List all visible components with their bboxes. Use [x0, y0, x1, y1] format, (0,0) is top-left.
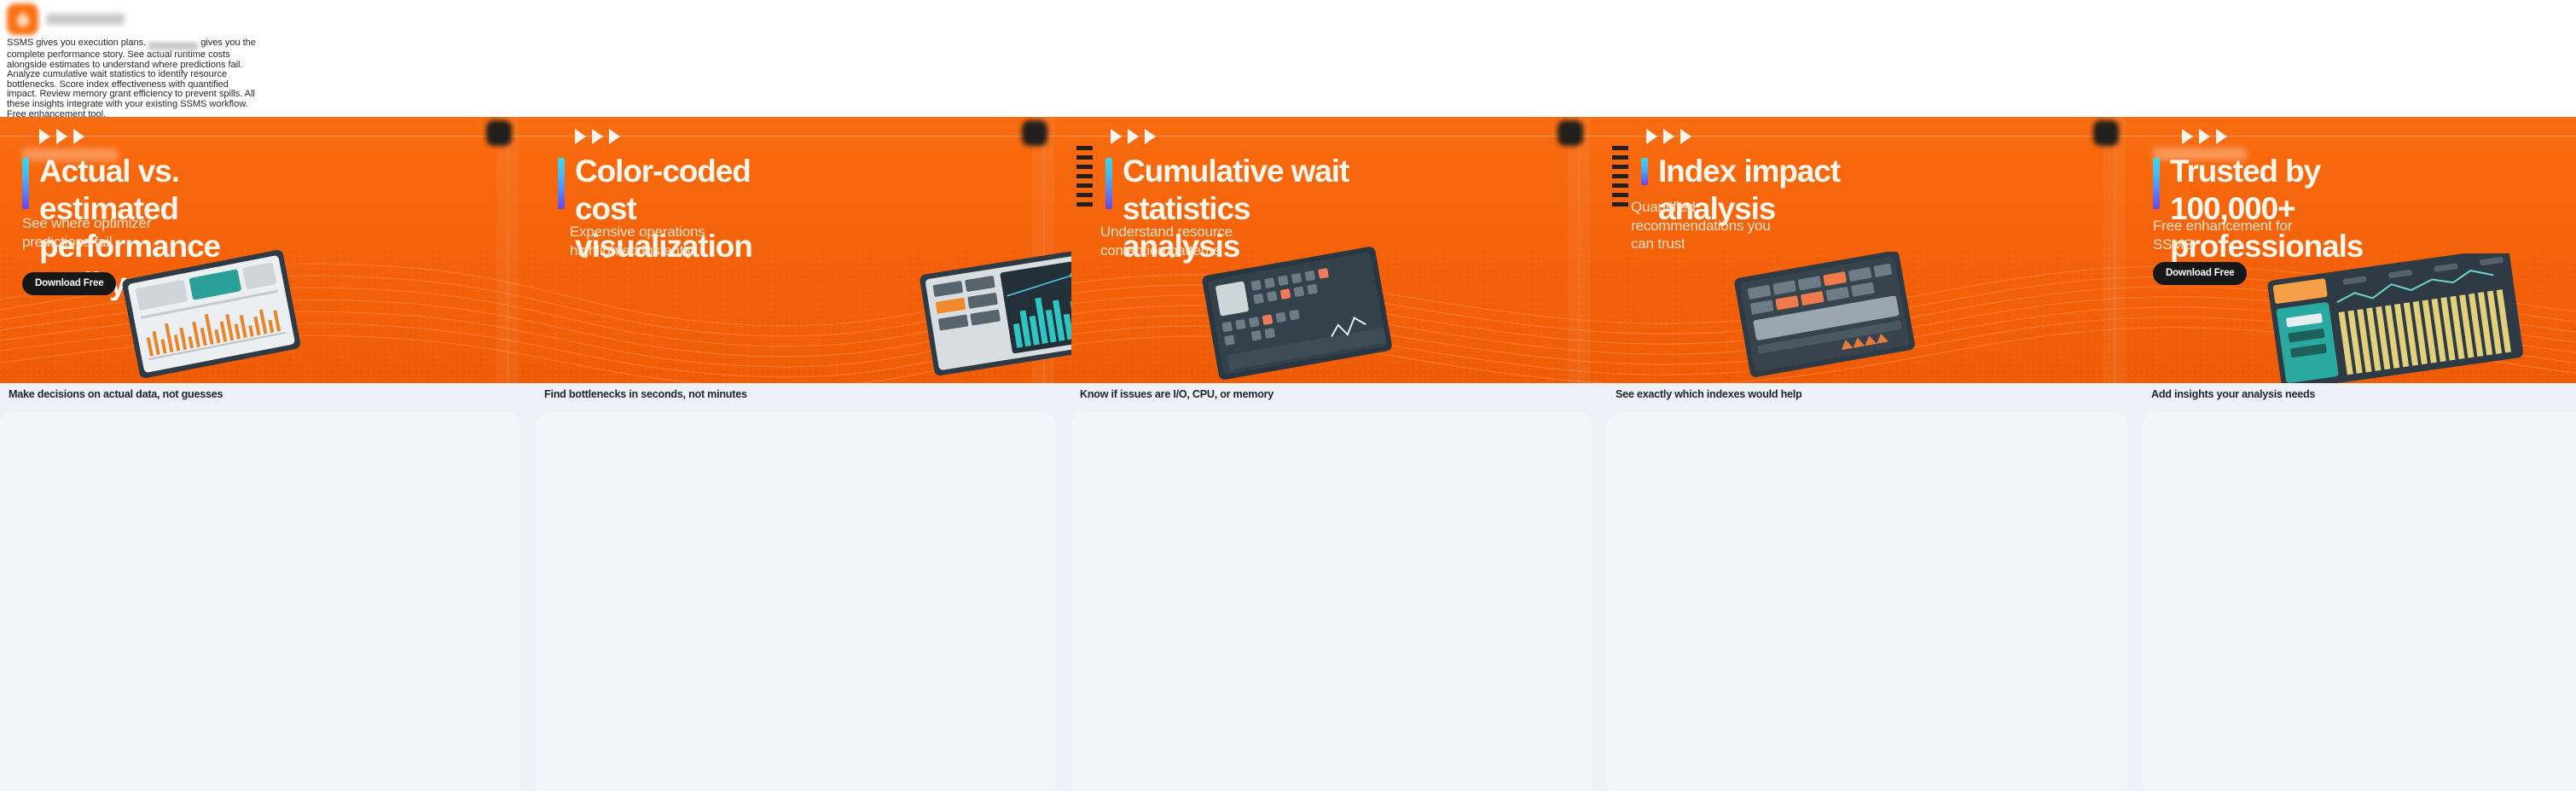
intro-section: [redacted brand name] SSMS gives you exe…	[0, 0, 2576, 117]
download-free-button-5[interactable]: Download Free	[2153, 262, 2247, 285]
intro-text-after: gives you the complete performance story…	[7, 38, 256, 117]
card-subtext-5: Free enhancement for SSMS	[2153, 217, 2306, 253]
feature-card-5[interactable]: [redacted eyebrow] Trusted by 100,000+ p…	[2143, 117, 2576, 383]
accent-bar-1	[22, 158, 29, 209]
tilted-index-panel-4	[1733, 252, 1917, 383]
footer-panel-2	[536, 412, 1056, 791]
flame-logo-icon	[7, 3, 38, 35]
corner-badge-icon-1	[486, 120, 512, 146]
accent-bar-2	[558, 158, 565, 209]
corner-badge-icon-4	[2093, 120, 2119, 146]
intro-text-before: SSMS gives you execution plans.	[7, 38, 146, 48]
footer-panel-4	[1607, 412, 2127, 791]
corner-badge-icon-3	[1558, 120, 1583, 146]
triple-arrow-icon-5	[2182, 127, 2227, 146]
brand-name-redacted: [redacted brand name]	[46, 14, 125, 25]
feature-card-3[interactable]: Cumulative wait statistics analysis Unde…	[1071, 117, 1607, 383]
card-subtext-2: Expensive operations highlighted instant…	[570, 223, 749, 259]
intro-paragraph: SSMS gives you execution plans. [redacte…	[7, 38, 261, 117]
footer-panel-1	[0, 412, 520, 791]
feature-card-2[interactable]: Color-coded cost visualization Expensive…	[536, 117, 1071, 383]
triple-arrow-icon-1	[39, 127, 84, 146]
feature-cards: [redacted eyebrow] Actual vs. estimated …	[0, 117, 2576, 383]
barcode-decoration-3	[1076, 146, 1093, 206]
corner-badge-icon-2	[1022, 120, 1047, 146]
barcode-decoration-4	[1612, 146, 1628, 206]
card-subtext-1: See where optimizer predictions fail	[22, 214, 176, 251]
triple-arrow-icon-2	[575, 127, 620, 146]
feature-band: [redacted eyebrow] Actual vs. estimated …	[0, 117, 2576, 383]
brand-row[interactable]: [redacted brand name]	[7, 3, 125, 35]
tilted-wait-matrix-panel-3	[1199, 247, 1395, 383]
accent-bar-5	[2153, 158, 2160, 209]
download-free-button-1[interactable]: Download Free	[22, 272, 116, 295]
triple-arrow-icon-4	[1646, 127, 1691, 146]
footer-panel-5	[2143, 412, 2576, 791]
triple-arrow-icon-3	[1111, 127, 1156, 146]
card-subtext-4: Quantified recommendations you can trust	[1631, 198, 1784, 253]
redacted-product-name: [redacted]	[148, 42, 198, 50]
footer-panel-3	[1071, 412, 1592, 791]
tilted-cost-chart-panel-2	[918, 247, 1071, 383]
card-subtext-3: Understand resource contention patterns	[1100, 223, 1271, 259]
tilted-dashboard-panel-5	[2267, 253, 2523, 383]
feature-card-1[interactable]: [redacted eyebrow] Actual vs. estimated …	[0, 117, 536, 383]
footer-section: Make decisions on actual data, not guess…	[0, 383, 2576, 791]
accent-bar-3	[1105, 158, 1112, 209]
accent-bar-4	[1641, 158, 1648, 185]
feature-card-4[interactable]: Index impact analysis Quantified recomme…	[1607, 117, 2143, 383]
